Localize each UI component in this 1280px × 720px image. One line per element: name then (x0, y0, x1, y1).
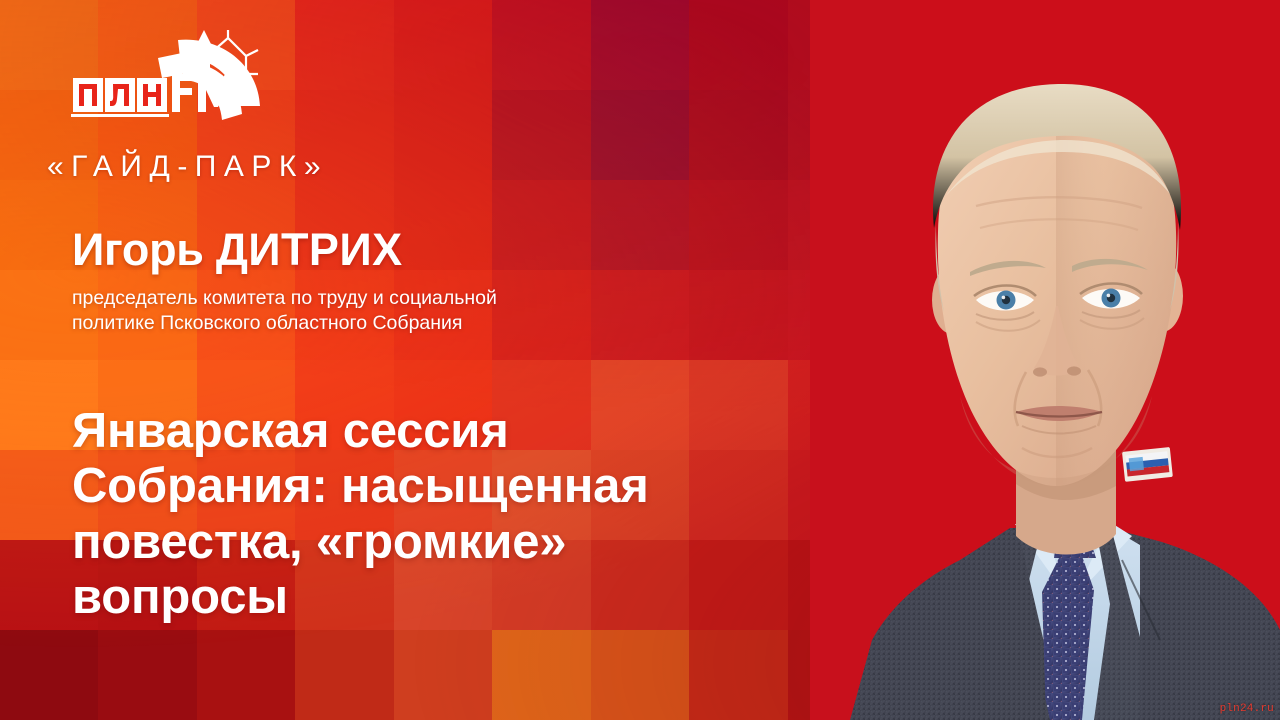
show-title: «ГАЙД-ПАРК» (47, 150, 328, 184)
mosaic-tile (394, 0, 492, 90)
mosaic-tile (689, 0, 787, 90)
headline-line-2: Собрания: насыщенная (72, 459, 832, 514)
mosaic-tile (689, 270, 787, 360)
headline-line-3: повестка, «громкие» (72, 515, 832, 570)
pln-fm-logo[interactable] (62, 22, 292, 137)
mosaic-tile (492, 630, 590, 720)
guest-role-line-2: политике Псковского областного Собрания (72, 311, 672, 336)
headline: Январская сессия Собрания: насыщенная по… (72, 404, 832, 625)
mosaic-tile (197, 630, 295, 720)
broadcast-promo-card: «ГАЙД-ПАРК» Игорь ДИТРИХ председатель ко… (0, 0, 1280, 720)
guest-family-name: ДИТРИХ (216, 224, 403, 275)
headline-line-1: Январская сессия (72, 404, 832, 459)
flag-lapel-pin-icon (1122, 447, 1173, 482)
mosaic-tile (689, 90, 787, 180)
headline-line-4: вопросы (72, 570, 832, 625)
mosaic-tile (394, 90, 492, 180)
mosaic-tile (689, 630, 787, 720)
mosaic-tile (591, 630, 689, 720)
mosaic-tile (394, 630, 492, 720)
guest-role-line-1: председатель комитета по труду и социаль… (72, 286, 672, 311)
guest-portrait (810, 0, 1280, 720)
guest-role: председатель комитета по труду и социаль… (72, 286, 672, 336)
mosaic-tile (689, 180, 787, 270)
mosaic-tile (0, 630, 98, 720)
mosaic-tile (295, 630, 393, 720)
guest-name: Игорь ДИТРИХ (72, 227, 403, 272)
mosaic-tile (394, 180, 492, 270)
mosaic-tile (295, 0, 393, 90)
mosaic-tile (492, 180, 590, 270)
mosaic-tile (591, 0, 689, 90)
guest-given-name: Игорь (72, 224, 204, 275)
site-watermark: pln24.ru (1220, 703, 1274, 715)
mosaic-tile (492, 0, 590, 90)
mosaic-tile (492, 90, 590, 180)
mosaic-tile (98, 630, 196, 720)
mosaic-tile (591, 90, 689, 180)
logo-pln-letters (71, 78, 169, 117)
mosaic-tile (591, 180, 689, 270)
